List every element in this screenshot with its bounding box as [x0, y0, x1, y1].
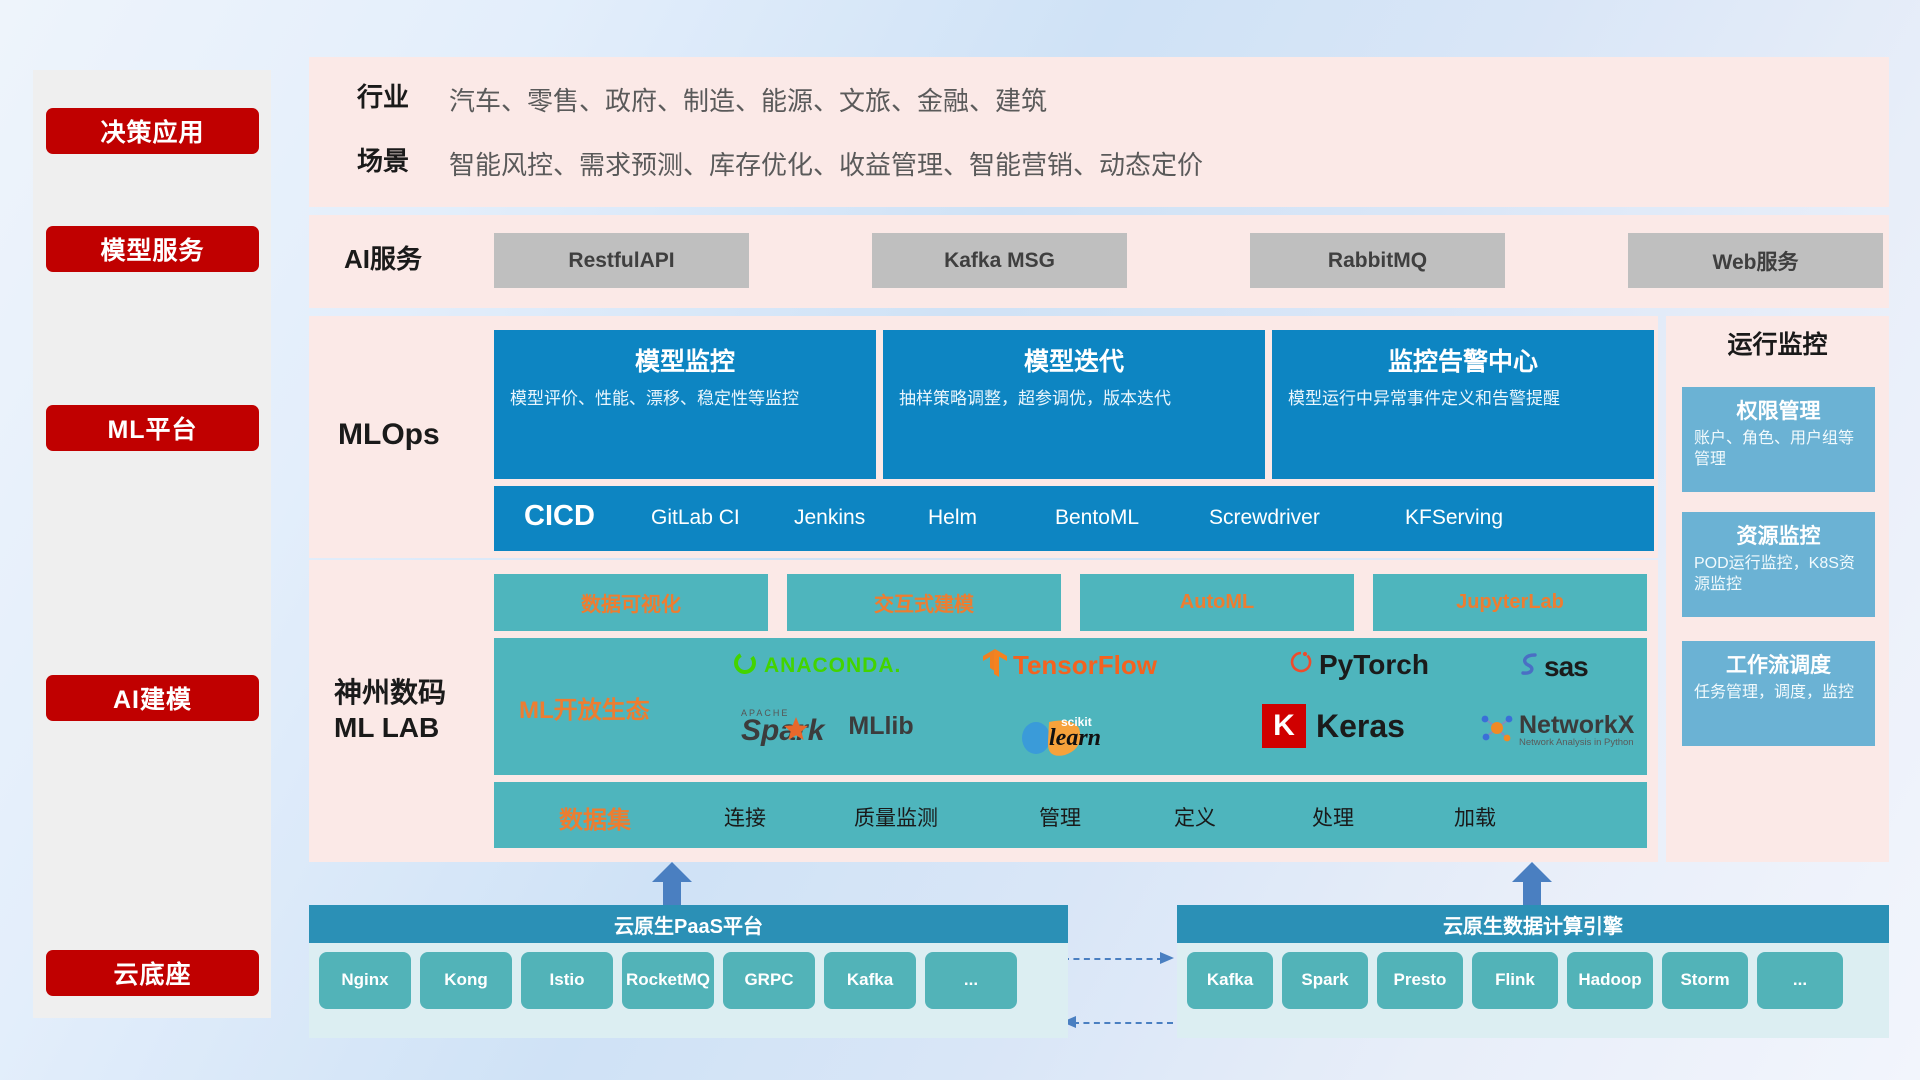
- monitoring-card-desc: 任务管理，调度，监控: [1694, 683, 1863, 704]
- anaconda-icon: [732, 650, 758, 681]
- mllab-tab-jupyterlab[interactable]: JupyterLab: [1373, 574, 1647, 631]
- ai-service-label: AI服务: [344, 243, 422, 276]
- decision-row-value-scenario: 智能风控、需求预测、库存优化、收益管理、智能营销、动态定价: [449, 145, 1203, 182]
- cloud-paas-group: 云原生PaaS平台 Nginx Kong Istio RocketMQ GRPC…: [309, 905, 1068, 1038]
- mlops-card-desc: 抽样策略调整，超参调优，版本迭代: [899, 388, 1249, 411]
- pytorch-icon: [1289, 648, 1313, 681]
- cloud-paas-title: 云原生PaaS平台: [309, 905, 1068, 943]
- sas-label: sas: [1544, 651, 1588, 683]
- cloud-chip-spark[interactable]: Spark: [1282, 952, 1368, 1009]
- mllab-tab-data-visualization[interactable]: 数据可视化: [494, 574, 768, 631]
- dash-line-right: [1063, 958, 1163, 960]
- cloud-chip-hadoop[interactable]: Hadoop: [1567, 952, 1653, 1009]
- monitoring-card-desc: POD运行监控，K8S资源监控: [1694, 554, 1863, 596]
- ai-service-band: AI服务 RestfulAPI Kafka MSG RabbitMQ Web服务: [309, 215, 1889, 308]
- dash-line-left: [1073, 1022, 1173, 1024]
- keras-label: Keras: [1316, 708, 1405, 745]
- logo-sas: sas: [1516, 650, 1588, 683]
- monitoring-card-title: 资源监控: [1694, 520, 1863, 550]
- mlops-label: MLOps: [338, 416, 440, 454]
- ai-service-chip-restfulapi[interactable]: RestfulAPI: [494, 233, 749, 288]
- cicd-item-screwdriver[interactable]: Screwdriver: [1209, 506, 1322, 530]
- networkx-sublabel: Network Analysis in Python: [1519, 738, 1634, 748]
- cloud-chip-more2[interactable]: ...: [1757, 952, 1843, 1009]
- logo-anaconda: ANACONDA.: [732, 650, 901, 681]
- mlops-card-model-monitoring[interactable]: 模型监控 模型评价、性能、漂移、稳定性等监控: [494, 330, 876, 479]
- layer-chip-model-service[interactable]: 模型服务: [46, 226, 259, 272]
- anaconda-label: ANACONDA.: [764, 654, 901, 678]
- networkx-label: NetworkX: [1519, 713, 1634, 738]
- cloud-chip-rocketmq[interactable]: RocketMQ: [622, 952, 714, 1009]
- tensorflow-icon: [981, 648, 1009, 683]
- mlops-card-desc: 模型运行中异常事件定义和告警提醒: [1288, 388, 1638, 411]
- cloud-chip-grpc[interactable]: GRPC: [723, 952, 815, 1009]
- cicd-item-jenkins[interactable]: Jenkins: [794, 506, 860, 530]
- dataset-item-connect[interactable]: 连接: [724, 802, 766, 832]
- cloud-chip-kong[interactable]: Kong: [420, 952, 512, 1009]
- mlops-card-title: 模型迭代: [899, 342, 1249, 378]
- up-arrow-paas-icon: [650, 862, 694, 908]
- cicd-bar: CICD GitLab CI Jenkins Helm BentoML Scre…: [494, 486, 1654, 551]
- mlops-card-desc: 模型评价、性能、漂移、稳定性等监控: [510, 388, 860, 411]
- mllib-label: MLlib: [848, 712, 913, 741]
- cloud-chip-presto[interactable]: Presto: [1377, 952, 1463, 1009]
- cloud-data-engine-group: 云原生数据计算引擎 Kafka Spark Presto Flink Hadoo…: [1177, 905, 1889, 1038]
- dataset-item-process[interactable]: 处理: [1312, 802, 1354, 832]
- mllab-dataset-row: 数据集 连接 质量监测 管理 定义 处理 加载: [494, 782, 1647, 848]
- mlops-card-title: 监控告警中心: [1288, 342, 1638, 378]
- mllab-band: 神州数码 ML LAB 数据可视化 交互式建模 AutoML JupyterLa…: [309, 560, 1658, 862]
- monitoring-card-title: 工作流调度: [1694, 649, 1863, 679]
- dataset-item-define[interactable]: 定义: [1174, 802, 1216, 832]
- mllab-tab-interactive-modeling[interactable]: 交互式建模: [787, 574, 1061, 631]
- monitoring-card-resource[interactable]: 资源监控 POD运行监控，K8S资源监控: [1682, 512, 1875, 617]
- arrow-right-icon: [1160, 950, 1178, 968]
- logo-pytorch: PyTorch: [1289, 648, 1429, 681]
- mllab-ecosystem-label: ML开放生态: [519, 690, 650, 725]
- mlops-card-model-iteration[interactable]: 模型迭代 抽样策略调整，超参调优，版本迭代: [883, 330, 1265, 479]
- monitoring-card-workflow[interactable]: 工作流调度 任务管理，调度，监控: [1682, 641, 1875, 746]
- cicd-item-kfserving[interactable]: KFServing: [1405, 506, 1505, 530]
- cloud-chip-istio[interactable]: Istio: [521, 952, 613, 1009]
- layer-chip-ai-modeling[interactable]: AI建模: [46, 675, 259, 721]
- cicd-item-gitlab-ci[interactable]: GitLab CI: [651, 506, 759, 530]
- ai-service-chip-web-service[interactable]: Web服务: [1628, 233, 1883, 288]
- cloud-chip-storm[interactable]: Storm: [1662, 952, 1748, 1009]
- layer-rail: [33, 70, 271, 1018]
- monitoring-title: 运行监控: [1666, 330, 1889, 361]
- cloud-chip-more[interactable]: ...: [925, 952, 1017, 1009]
- layer-chip-decision[interactable]: 决策应用: [46, 108, 259, 154]
- dataset-item-manage[interactable]: 管理: [1039, 802, 1081, 832]
- mllab-ecosystem-panel: ML开放生态 ANACONDA. TensorFlow: [494, 638, 1647, 775]
- mllab-label-line1: 神州数码: [334, 677, 446, 708]
- dataset-label: 数据集: [559, 800, 631, 835]
- networkx-icon: [1479, 710, 1515, 751]
- cloud-chip-kafka2[interactable]: Kafka: [1187, 952, 1273, 1009]
- logo-keras: K Keras: [1262, 704, 1405, 748]
- mllab-tab-automl[interactable]: AutoML: [1080, 574, 1354, 631]
- dataset-item-load[interactable]: 加载: [1454, 802, 1496, 832]
- mlops-card-title: 模型监控: [510, 342, 860, 378]
- dataset-item-quality-monitor[interactable]: 质量监测: [854, 802, 938, 832]
- up-arrow-data-engine-icon: [1510, 862, 1554, 908]
- cloud-chip-kafka[interactable]: Kafka: [824, 952, 916, 1009]
- logo-networkx: NetworkX Network Analysis in Python: [1479, 710, 1634, 751]
- tensorflow-label: TensorFlow: [1013, 650, 1157, 681]
- cloud-data-engine-title: 云原生数据计算引擎: [1177, 905, 1889, 943]
- monitoring-band: 运行监控 权限管理 账户、角色、用户组等管理 资源监控 POD运行监控，K8S资…: [1666, 316, 1889, 862]
- sklearn-bottom-label: learn: [1049, 725, 1101, 752]
- ai-service-chip-kafka-msg[interactable]: Kafka MSG: [872, 233, 1127, 288]
- decision-band: 行业 汽车、零售、政府、制造、能源、文旅、金融、建筑 场景 智能风控、需求预测、…: [309, 57, 1889, 207]
- logo-spark-mllib: APACHE Spark MLlib: [733, 710, 914, 743]
- sas-icon: [1516, 650, 1542, 683]
- cloud-chip-flink[interactable]: Flink: [1472, 952, 1558, 1009]
- cicd-item-helm[interactable]: Helm: [928, 506, 1008, 530]
- monitoring-card-permission[interactable]: 权限管理 账户、角色、用户组等管理: [1682, 387, 1875, 492]
- pytorch-label: PyTorch: [1319, 649, 1429, 681]
- keras-icon: K: [1262, 704, 1306, 748]
- cicd-title: CICD: [524, 500, 595, 533]
- monitoring-card-title: 权限管理: [1694, 395, 1863, 425]
- mlops-card-alert-center[interactable]: 监控告警中心 模型运行中异常事件定义和告警提醒: [1272, 330, 1654, 479]
- logo-tensorflow: TensorFlow: [981, 648, 1157, 683]
- layer-chip-ml-platform[interactable]: ML平台: [46, 405, 259, 451]
- decision-row-label-scenario: 场景: [357, 145, 409, 178]
- cloud-chip-nginx[interactable]: Nginx: [319, 952, 411, 1009]
- monitoring-card-desc: 账户、角色、用户组等管理: [1694, 429, 1863, 471]
- cicd-item-bentoml[interactable]: BentoML: [1055, 506, 1130, 530]
- ai-service-chip-rabbitmq[interactable]: RabbitMQ: [1250, 233, 1505, 288]
- decision-row-label-industry: 行业: [357, 81, 409, 114]
- mllab-label: 神州数码 ML LAB: [334, 675, 446, 745]
- layer-chip-cloud-base[interactable]: 云底座: [46, 950, 259, 996]
- decision-row-value-industry: 汽车、零售、政府、制造、能源、文旅、金融、建筑: [449, 81, 1047, 118]
- mlops-band: MLOps 模型监控 模型评价、性能、漂移、稳定性等监控 模型迭代 抽样策略调整…: [309, 316, 1658, 558]
- mllab-label-line2: ML LAB: [334, 712, 439, 743]
